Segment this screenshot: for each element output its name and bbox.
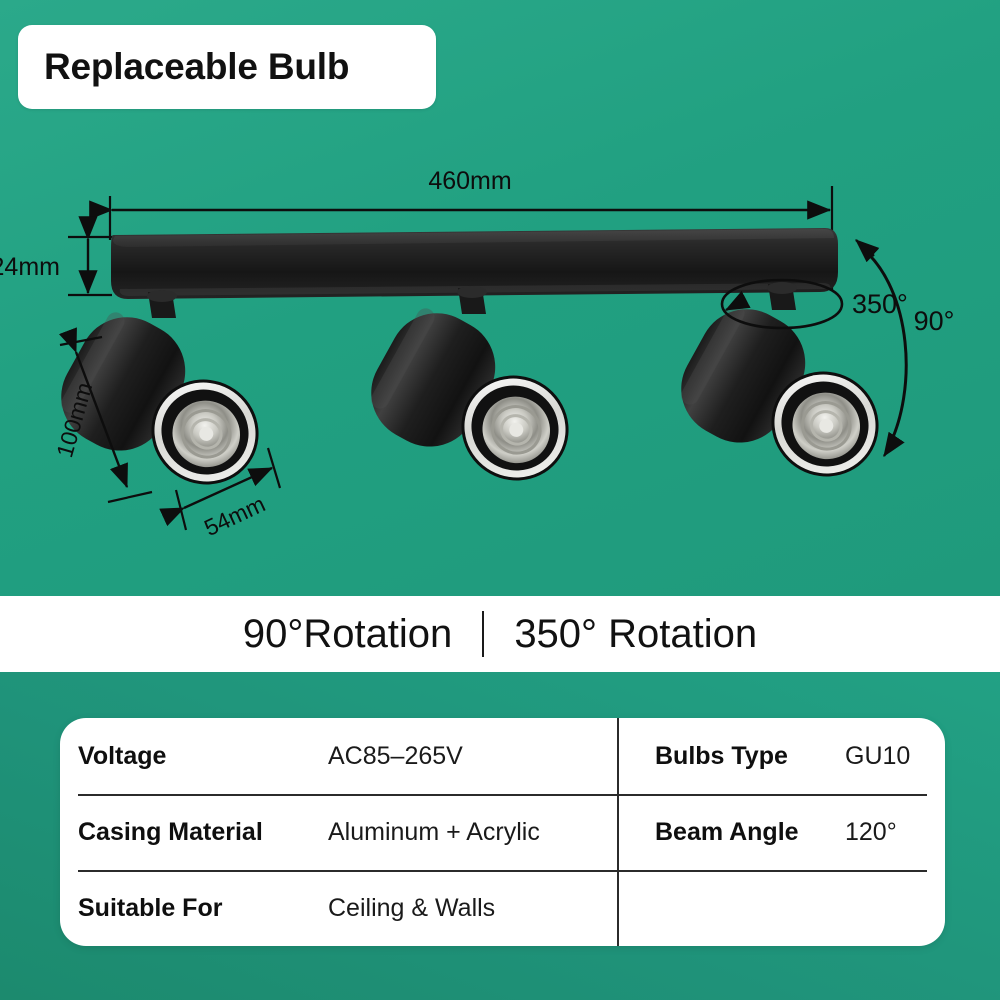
spec-table-card: Voltage AC85–265V Bulbs Type GU10 Casing… [60, 718, 945, 946]
spec-label: Casing Material [78, 818, 328, 847]
tilt-angle-label: 90° [914, 306, 955, 336]
spec-cell-beam-angle: Beam Angle 120° [617, 794, 945, 870]
spec-cell-suitable-for: Suitable For Ceiling & Walls [60, 870, 617, 946]
spec-cell-casing-material: Casing Material Aluminum + Acrylic [60, 794, 617, 870]
table-row: Suitable For Ceiling & Walls [60, 870, 945, 946]
spec-cell-voltage: Voltage AC85–265V [60, 718, 617, 794]
spec-value: 120° [845, 818, 897, 847]
spec-cell-bulbs-type: Bulbs Type GU10 [617, 718, 945, 794]
bar-height-dimension: 24mm [0, 237, 112, 295]
spec-label: Beam Angle [655, 818, 845, 847]
product-diagram: 460mm 24mm [0, 0, 1000, 596]
head-diameter-dimension-label: 54mm [200, 490, 269, 541]
spec-value: Ceiling & Walls [328, 894, 495, 923]
spec-column-divider [617, 718, 619, 946]
spec-label: Bulbs Type [655, 742, 845, 771]
product-infographic: Replaceable Bulb [0, 0, 1000, 1000]
rotation-banner: 90°Rotation 350° Rotation [0, 596, 1000, 672]
table-row: Voltage AC85–265V Bulbs Type GU10 [60, 718, 945, 794]
spec-value: AC85–265V [328, 742, 463, 771]
spec-label: Suitable For [78, 894, 328, 923]
table-row: Casing Material Aluminum + Acrylic Beam … [60, 794, 945, 870]
bar-height-dimension-label: 24mm [0, 253, 60, 281]
spec-value: GU10 [845, 742, 910, 771]
swivel-rotation-text: 350° Rotation [484, 612, 787, 657]
spec-cell-empty [617, 870, 945, 946]
spec-value: Aluminum + Acrylic [328, 818, 540, 847]
spec-label: Voltage [78, 742, 328, 771]
spec-table: Voltage AC85–265V Bulbs Type GU10 Casing… [60, 718, 945, 946]
length-dimension-label: 460mm [428, 167, 511, 195]
tilt-rotation-text: 90°Rotation [213, 612, 482, 657]
spotlight-head-middle [354, 286, 587, 500]
